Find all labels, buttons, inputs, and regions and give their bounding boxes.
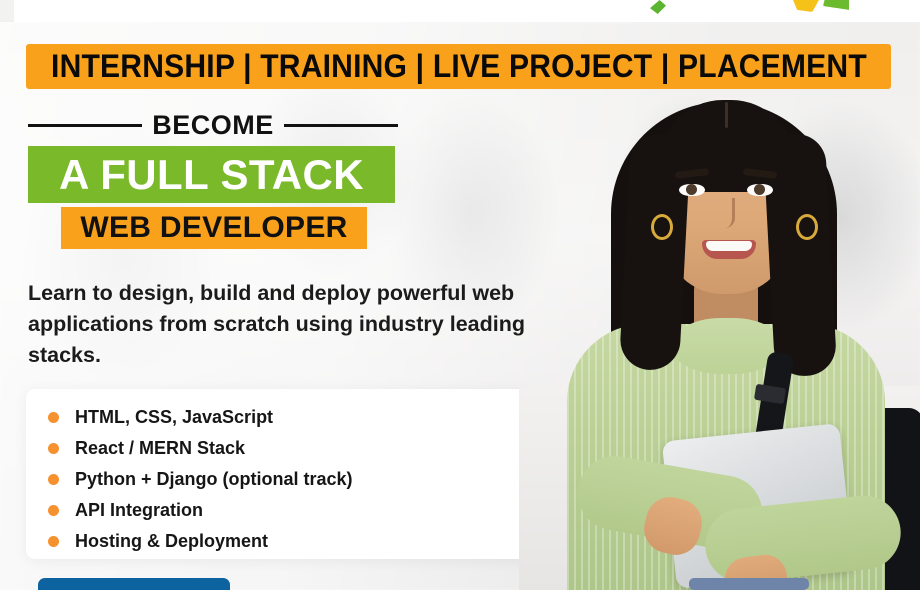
feature-item: Python + Django (optional track)	[48, 464, 534, 495]
features-card: HTML, CSS, JavaScript React / MERN Stack…	[26, 389, 534, 559]
bullet-dot-icon	[48, 474, 59, 485]
nose	[721, 198, 735, 228]
jeans	[689, 578, 809, 590]
feature-item: React / MERN Stack	[48, 433, 534, 464]
feature-item: API Integration	[48, 495, 534, 526]
offer-ribbon-text: INTERNSHIP | TRAINING | LIVE PROJECT | P…	[51, 48, 867, 85]
offer-ribbon-banner: INTERNSHIP | TRAINING | LIVE PROJECT | P…	[26, 44, 891, 89]
description-paragraph: Learn to design, build and deploy powerf…	[28, 278, 548, 371]
headline-orange-block: WEB DEVELOPER	[61, 207, 367, 249]
cta-button[interactable]	[38, 578, 230, 590]
eyebrow-rule-left	[28, 124, 142, 127]
eyebrow-rule-right	[284, 124, 398, 127]
hair-right-strand	[763, 133, 838, 378]
headline-eyebrow-row: BECOME	[28, 110, 398, 140]
feature-label: HTML, CSS, JavaScript	[75, 407, 273, 428]
feature-label: Hosting & Deployment	[75, 531, 268, 552]
bullet-dot-icon	[48, 505, 59, 516]
headline-eyebrow-text: BECOME	[152, 110, 274, 141]
hair-part	[725, 102, 728, 128]
iris-left	[686, 184, 697, 195]
feature-label: API Integration	[75, 500, 203, 521]
promo-poster: INTERNSHIP | TRAINING | LIVE PROJECT | P…	[0, 0, 920, 590]
bullet-dot-icon	[48, 412, 59, 423]
bullet-dot-icon	[48, 443, 59, 454]
headline-line-two: WEB DEVELOPER	[80, 211, 347, 245]
iris-right	[754, 184, 765, 195]
hoop-earring-left-icon	[651, 214, 673, 240]
feature-label: Python + Django (optional track)	[75, 469, 353, 490]
feature-item: Hosting & Deployment	[48, 526, 534, 557]
feature-label: React / MERN Stack	[75, 438, 245, 459]
bullet-dot-icon	[48, 536, 59, 547]
teeth	[706, 241, 752, 251]
headline-green-block: A FULL STACK	[28, 146, 395, 203]
student-photo	[519, 86, 920, 590]
hair-left-strand	[619, 133, 691, 372]
hoop-earring-right-icon	[796, 214, 818, 240]
top-header-bar	[14, 0, 920, 22]
feature-item: HTML, CSS, JavaScript	[48, 402, 534, 433]
headline-line-one: A FULL STACK	[59, 151, 364, 199]
